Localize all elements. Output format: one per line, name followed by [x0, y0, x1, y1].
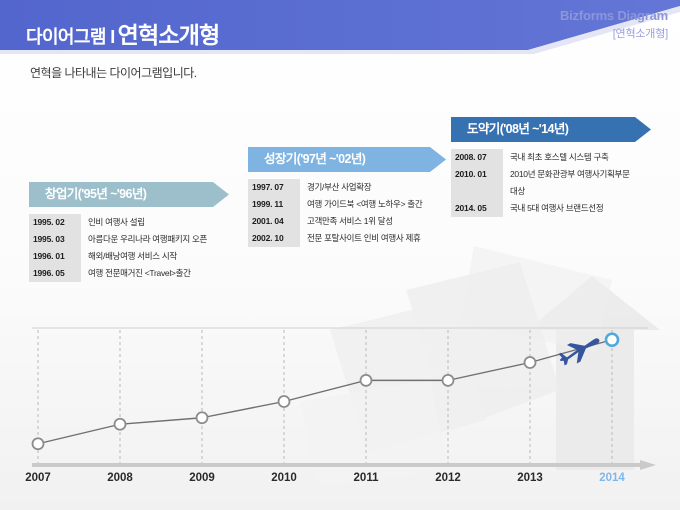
card-header-growth: 성장기('97년 ~'02년) — [248, 147, 446, 172]
timeline-row-date: 1996. 01 — [29, 248, 81, 265]
timeline-row-date: 2001. 04 — [248, 213, 300, 230]
chart-x-label-2008: 2008 — [107, 472, 133, 484]
slide-subtitle: 연혁을 나타내는 다이어그램입니다. — [30, 64, 197, 81]
chart-x-label-2011: 2011 — [354, 472, 379, 484]
chart-x-label-2007: 2007 — [25, 472, 51, 484]
timeline-row-text: 여행 전문매거진 <Travel>출간 — [81, 265, 191, 282]
chart-x-label-2014: 2014 — [599, 472, 625, 484]
timeline-row-text: 2010년 문화관광부 여행사기획부문 대상 — [503, 166, 630, 200]
watermark-brand: Bizforms Diagram — [560, 8, 668, 23]
card-header-leap: 도약기('08년 ~'14년) — [451, 117, 651, 142]
timeline-row-text: 전문 포탈사이트 인비 여행사 제휴 — [300, 230, 421, 247]
slide-canvas: 다이어그램 I연혁소개형 Bizforms Diagram [연혁소개형] 연혁… — [0, 0, 680, 510]
timeline-row-text: 국내 최초 호스텔 시스템 구축 — [503, 149, 609, 166]
header-band: 다이어그램 I연혁소개형 Bizforms Diagram [연혁소개형] — [0, 0, 680, 58]
timeline-row: 1997. 07 경기/부산 사업확장 — [248, 179, 446, 196]
page-title: 다이어그램 I연혁소개형 — [26, 16, 219, 50]
card-body-growth: 1997. 07 경기/부산 사업확장 1999. 11 여행 가이드북 <여행… — [248, 179, 446, 247]
page-title-main: 연혁소개형 — [118, 22, 220, 48]
timeline-row-date: 1995. 03 — [29, 231, 81, 248]
timeline-row-text: 여행 가이드북 <여행 노하우> 출간 — [300, 196, 422, 213]
card-title-leap: 도약기('08년 ~'14년) — [467, 117, 568, 142]
chart-x-label-2009: 2009 — [189, 472, 215, 484]
timeline-row-date: 2008. 07 — [451, 149, 503, 166]
growth-line-chart: 20072008200920102011201220132014 — [0, 300, 680, 510]
card-header-founding: 창업기('95년 ~'96년) — [29, 182, 229, 207]
chart-x-label-2010: 2010 — [271, 472, 297, 484]
timeline-row-text: 해외/배낭여행 서비스 시작 — [81, 248, 177, 265]
chart-x-label-2012: 2012 — [435, 472, 461, 484]
card-title-founding: 창업기('95년 ~'96년) — [45, 182, 146, 207]
watermark-subtitle: [연혁소개형] — [613, 25, 668, 41]
timeline-row: 1996. 05 여행 전문매거진 <Travel>출간 — [29, 265, 229, 282]
timeline-row-date: 1997. 07 — [248, 179, 300, 196]
timeline-row-date: 1996. 05 — [29, 265, 81, 282]
timeline-row-date: 2010. 01 — [451, 166, 503, 183]
timeline-row: 2001. 04 고객만족 서비스 1위 달성 — [248, 213, 446, 230]
timeline-row-text: 인비 여행사 설립 — [81, 214, 145, 231]
page-title-prefix: 다이어그램 I — [26, 27, 115, 47]
timeline-row-date: 2014. 05 — [451, 200, 503, 217]
timeline-row-date: 1995. 02 — [29, 214, 81, 231]
card-title-growth: 성장기('97년 ~'02년) — [264, 147, 365, 172]
card-body-founding: 1995. 02 인비 여행사 설립 1995. 03 아름다운 우리나라 여행… — [29, 214, 229, 282]
timeline-row-text: 아름다운 우리나라 여행패키지 오픈 — [81, 231, 207, 248]
timeline-row: 1995. 02 인비 여행사 설립 — [29, 214, 229, 231]
timeline-row: 2008. 07 국내 최초 호스텔 시스템 구축 — [451, 149, 651, 166]
timeline-row: 1995. 03 아름다운 우리나라 여행패키지 오픈 — [29, 231, 229, 248]
timeline-row-text: 고객만족 서비스 1위 달성 — [300, 213, 393, 230]
timeline-row-text: 국내 5대 여행사 브랜드선정 — [503, 200, 603, 217]
timeline-row: 2002. 10 전문 포탈사이트 인비 여행사 제휴 — [248, 230, 446, 247]
timeline-row-text: 경기/부산 사업확장 — [300, 179, 371, 196]
timeline-card-growth[interactable]: 성장기('97년 ~'02년) 1997. 07 경기/부산 사업확장 1999… — [248, 147, 446, 247]
timeline-row: 2014. 05 국내 5대 여행사 브랜드선정 — [451, 200, 651, 217]
timeline-card-founding[interactable]: 창업기('95년 ~'96년) 1995. 02 인비 여행사 설립 1995.… — [29, 182, 229, 282]
timeline-row: 1999. 11 여행 가이드북 <여행 노하우> 출간 — [248, 196, 446, 213]
timeline-row-date: 1999. 11 — [248, 196, 300, 213]
chart-x-label-2013: 2013 — [517, 472, 543, 484]
timeline-row: 1996. 01 해외/배낭여행 서비스 시작 — [29, 248, 229, 265]
timeline-card-leap[interactable]: 도약기('08년 ~'14년) 2008. 07 국내 최초 호스텔 시스템 구… — [451, 117, 651, 217]
timeline-row-date: 2002. 10 — [248, 230, 300, 247]
card-body-leap: 2008. 07 국내 최초 호스텔 시스템 구축 2010. 01 2010년… — [451, 149, 651, 217]
timeline-row: 2010. 01 2010년 문화관광부 여행사기획부문 대상 — [451, 166, 651, 200]
